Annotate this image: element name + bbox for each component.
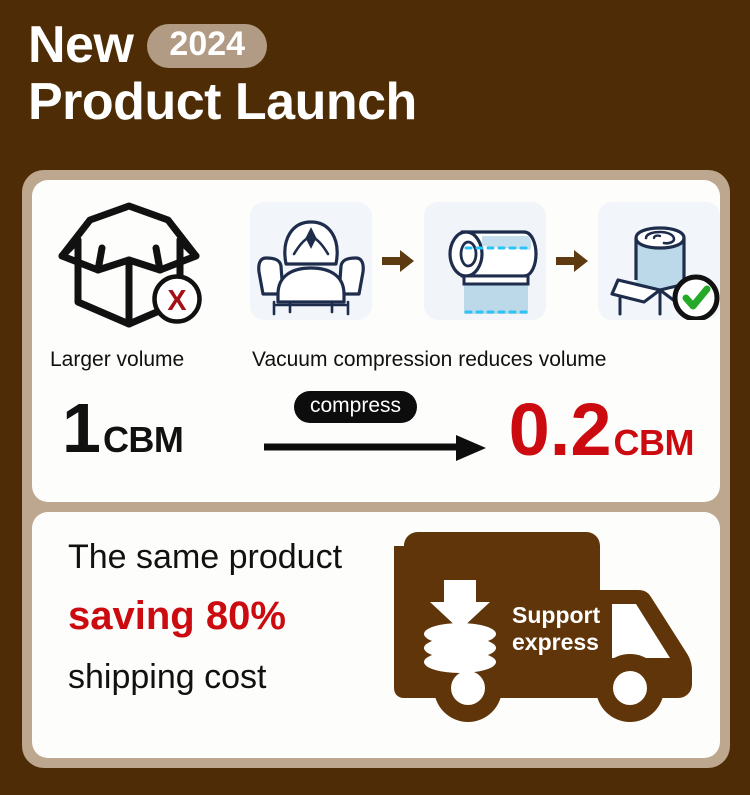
compression-steps bbox=[250, 202, 720, 320]
shipping-line-2-saving: saving 80% bbox=[68, 596, 438, 636]
truck-support-express-label: Support express bbox=[512, 602, 600, 656]
shipping-line-3: shipping cost bbox=[68, 660, 438, 694]
compress-arrow-group: compress bbox=[264, 389, 496, 475]
armchair-icon bbox=[250, 202, 372, 320]
compression-card: X bbox=[32, 180, 720, 502]
shipping-line-1: The same product bbox=[68, 540, 438, 574]
compression-illustration-row: X bbox=[32, 180, 720, 340]
arrow-right-icon-2 bbox=[554, 247, 590, 275]
label-vacuum-compression: Vacuum compression reduces volume bbox=[252, 348, 606, 372]
roll-in-box-icon bbox=[598, 202, 720, 320]
cbm-after-unit: CBM bbox=[614, 422, 694, 464]
cbm-before: 1 CBM bbox=[62, 393, 183, 463]
shipping-savings-text: The same product saving 80% shipping cos… bbox=[68, 540, 438, 694]
delivery-truck-icon: Support express bbox=[390, 528, 706, 728]
step-roll-in-box-tile bbox=[598, 202, 720, 320]
cards-frame: X bbox=[22, 170, 730, 768]
infographic-page: New 2024 Product Launch bbox=[0, 0, 750, 795]
cbm-after-value: 0.2 bbox=[509, 393, 612, 467]
compression-labels: Larger volume Vacuum compression reduces… bbox=[32, 348, 720, 382]
step-armchair-tile bbox=[250, 202, 372, 320]
shipping-card: The same product saving 80% shipping cos… bbox=[32, 512, 720, 758]
cbm-comparison-row: 1 CBM compress 0.2 CBM bbox=[32, 385, 720, 490]
page-title-new: New bbox=[28, 18, 133, 73]
title-line-1: New 2024 bbox=[28, 18, 718, 73]
open-box-icon: X bbox=[54, 198, 204, 328]
page-header: New 2024 Product Launch bbox=[28, 18, 718, 130]
page-title-product-launch: Product Launch bbox=[28, 75, 417, 130]
truck-label-line-2: express bbox=[512, 629, 600, 656]
cbm-before-unit: CBM bbox=[103, 419, 183, 461]
year-badge: 2024 bbox=[147, 24, 267, 68]
compress-badge: compress bbox=[294, 391, 417, 423]
rolled-mattress-icon bbox=[424, 202, 546, 320]
label-larger-volume: Larger volume bbox=[50, 348, 184, 372]
step-rolled-mattress-tile bbox=[424, 202, 546, 320]
arrow-right-icon-1 bbox=[380, 247, 416, 275]
long-arrow-right-icon bbox=[264, 433, 486, 463]
cbm-before-value: 1 bbox=[62, 393, 101, 463]
truck-label-line-1: Support bbox=[512, 602, 600, 629]
title-line-2: Product Launch bbox=[28, 75, 718, 130]
svg-text:X: X bbox=[167, 285, 186, 317]
cbm-after: 0.2 CBM bbox=[509, 393, 694, 467]
